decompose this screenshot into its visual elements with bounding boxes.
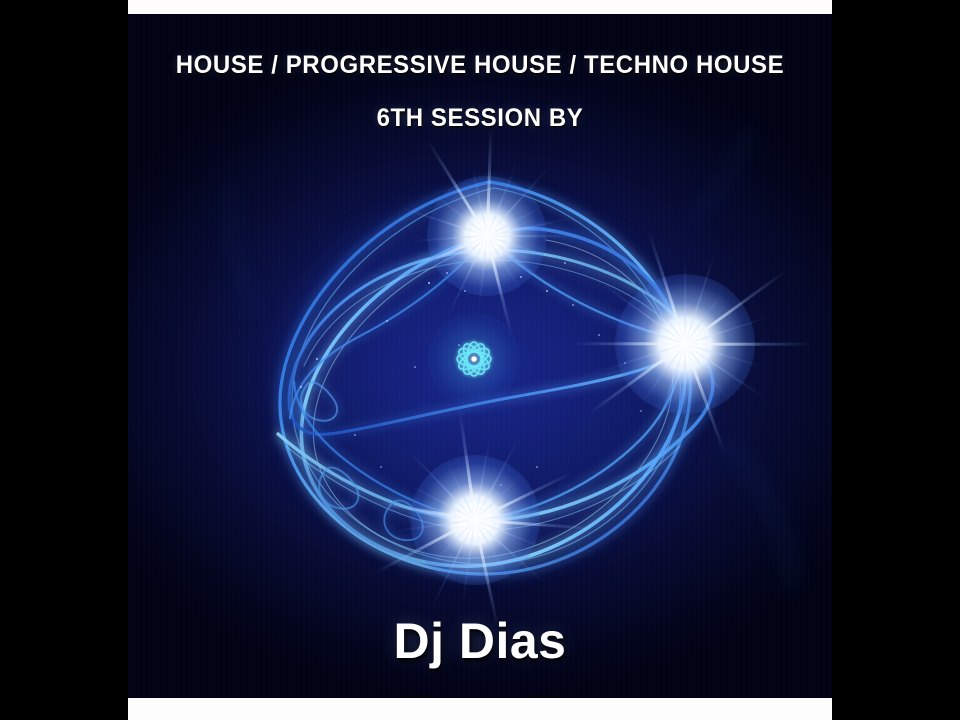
video-letterbox-stage: HOUSE / PROGRESSIVE HOUSE / TECHNO HOUSE… — [0, 0, 960, 720]
cover-title-block: HOUSE / PROGRESSIVE HOUSE / TECHNO HOUSE… — [128, 50, 832, 135]
nucleus-glow — [428, 313, 520, 405]
top-white-band — [128, 0, 832, 14]
bottom-white-band — [128, 698, 832, 720]
artist-name: Dj Dias — [128, 612, 832, 670]
album-cover-artwork: HOUSE / PROGRESSIVE HOUSE / TECHNO HOUSE… — [128, 14, 832, 698]
cover-title-line-1: HOUSE / PROGRESSIVE HOUSE / TECHNO HOUSE — [142, 50, 818, 81]
cover-title-line-2: 6TH SESSION BY — [142, 103, 818, 134]
